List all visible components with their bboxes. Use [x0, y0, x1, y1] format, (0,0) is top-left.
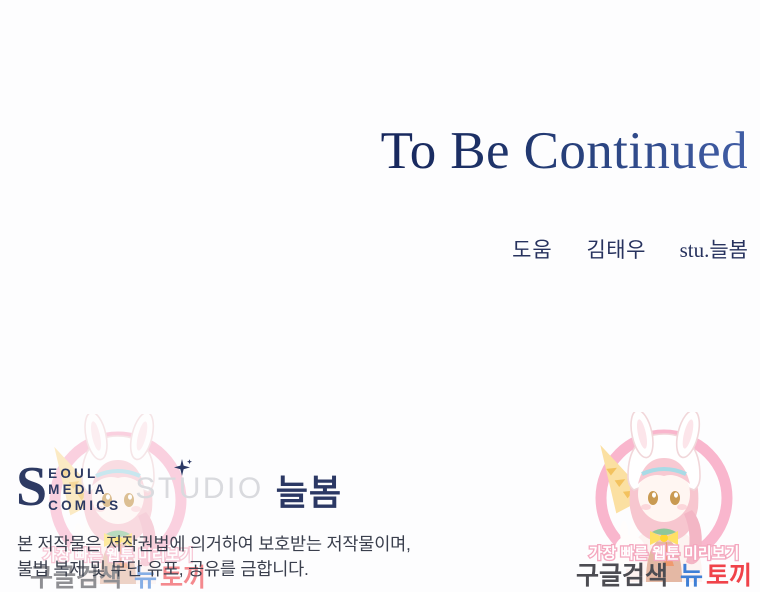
page-canvas: To Be Continued 도움 김태우 stu.늘봄 [0, 0, 760, 592]
page-title: To Be Continued [381, 124, 748, 180]
smc-wordmark-stack: EOUL MEDIA COMICS [48, 463, 121, 512]
smc-line-eoul: EOUL [48, 467, 121, 480]
credits-line: 도움 김태우 stu.늘봄 [0, 234, 748, 264]
credit-studio-name: stu.늘봄 [680, 234, 748, 264]
watermark-brand-highlight: 뉴 [680, 562, 703, 590]
watermark-tagline: 가장 빠른 웹툰 미리보기 [589, 544, 740, 562]
studio-name-label: 늘봄 [276, 465, 342, 516]
page-title-block: To Be Continued [0, 124, 748, 180]
credit-person-name: 김태우 [586, 234, 645, 264]
smc-line-comics: COMICS [48, 499, 121, 512]
watermark-brand-name: 토끼 [706, 562, 752, 590]
copyright-line-1: 본 저작물은 저작권법에 의거하여 보호받는 저작물이며, [17, 532, 411, 557]
credit-role-label: 도움 [512, 234, 553, 264]
footer-logo-row: S EOUL MEDIA COMICS STUDIO 늘봄 [16, 456, 342, 518]
watermark-tagline-outline: 가장 빠른 웹툰 미리보기 [589, 544, 740, 562]
seoul-media-comics-logo: S EOUL MEDIA COMICS [16, 459, 121, 515]
watermark-brand-prefix: 구글검색 [576, 562, 668, 590]
newtoki-watermark-right: 가장 빠른 웹툰 미리보기 가장 빠른 웹툰 미리보기 구글검색 뉴 토끼 [568, 412, 760, 592]
smc-line-media: MEDIA [48, 483, 121, 496]
smc-monogram: S [16, 461, 47, 513]
copyright-line-2: 불법 복제 및 무단 유포, 공유를 금합니다. [17, 557, 411, 582]
studio-prefix-label: STUDIO [135, 472, 263, 506]
copyright-notice: 본 저작물은 저작권법에 의거하여 보호받는 저작물이며, 불법 복제 및 무단… [17, 532, 411, 582]
